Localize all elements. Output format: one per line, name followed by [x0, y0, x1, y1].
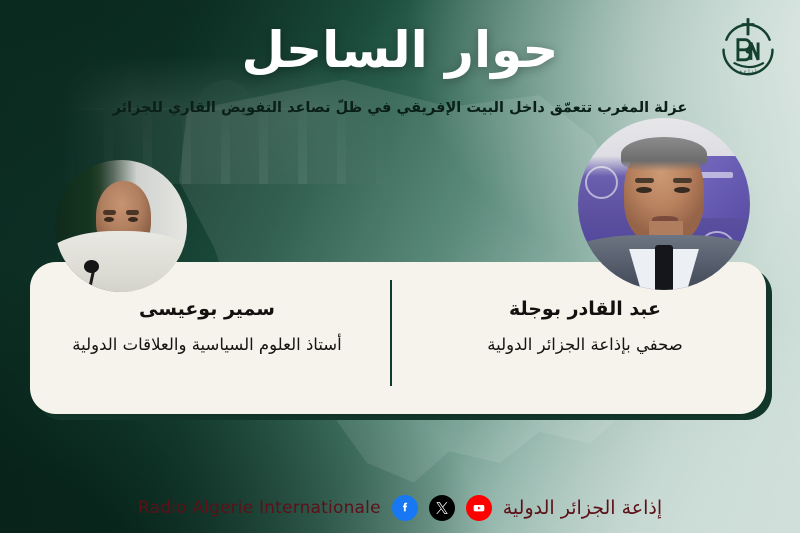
guest-info-right: عبد القادر بوجلة صحفي بإذاعة الجزائر الد… — [420, 298, 750, 355]
guest-name-right: عبد القادر بوجلة — [420, 298, 750, 321]
program-title: حوار الساحل — [0, 24, 800, 77]
guest-role-left: أستاذ العلوم السياسية والعلاقات الدولية — [42, 335, 372, 356]
footer-bar: Radio Algerie Internationale إذاعة الجزا… — [0, 495, 800, 521]
guest-photo-left — [55, 160, 187, 292]
broadcast-program-card: ا ذ ا ع ة حوار الساحل عزلة المغرب تتعمّق… — [0, 0, 800, 533]
guest-name-left: سمير بوعيسى — [42, 298, 372, 321]
x-twitter-icon[interactable] — [429, 495, 455, 521]
guest-photo-right — [578, 118, 750, 290]
guest-panel-divider — [390, 280, 392, 386]
youtube-icon[interactable] — [466, 495, 492, 521]
footer-arabic-name: إذاعة الجزائر الدولية — [503, 497, 662, 519]
facebook-icon[interactable] — [392, 495, 418, 521]
program-subtitle: عزلة المغرب تتعمّق داخل البيت الإفريقي ف… — [0, 100, 800, 116]
footer-latin-name: Radio Algerie Internationale — [138, 498, 381, 518]
guest-info-left: سمير بوعيسى أستاذ العلوم السياسية والعلا… — [42, 298, 372, 355]
guest-role-right: صحفي بإذاعة الجزائر الدولية — [420, 335, 750, 356]
